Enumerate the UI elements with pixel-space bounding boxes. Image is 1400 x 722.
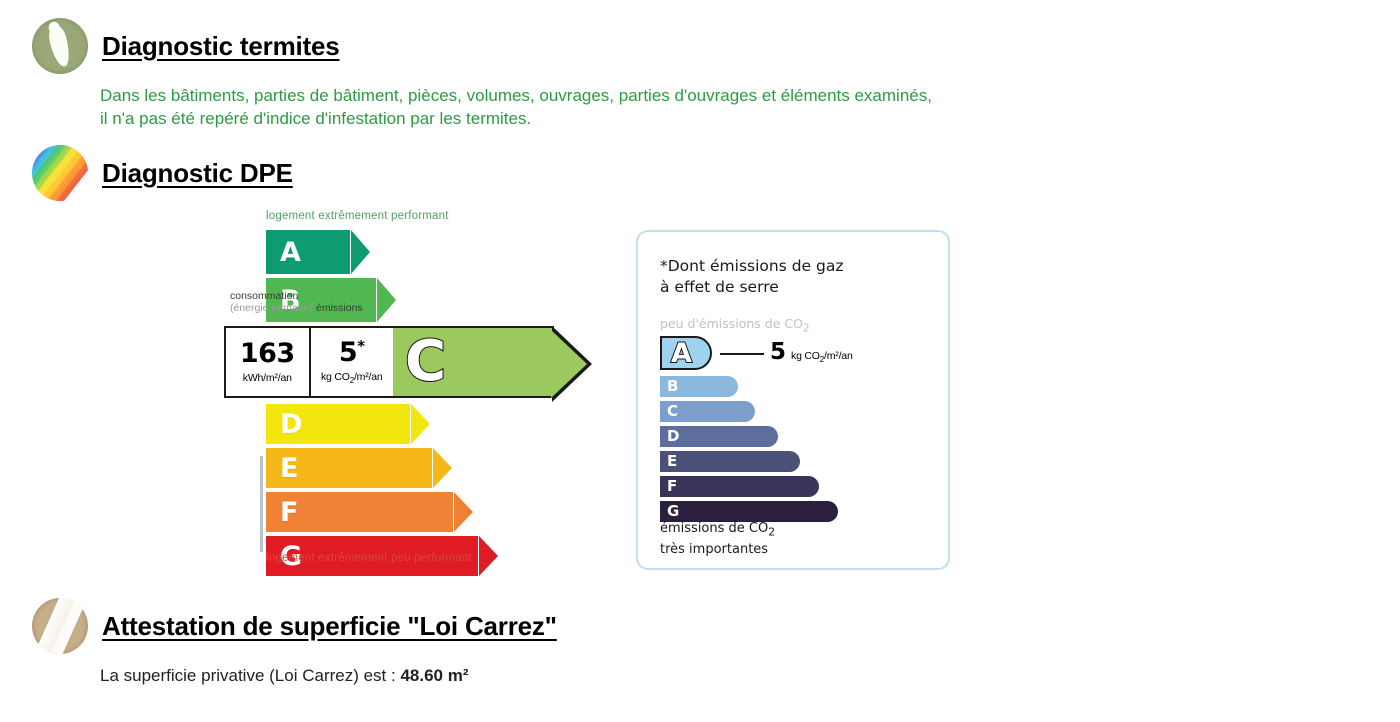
co2-bar-a: A	[660, 336, 712, 370]
co2-row-c: C	[660, 401, 930, 422]
co2-row-d: D	[660, 426, 930, 447]
dpe-header: Diagnostic DPE	[0, 145, 1400, 201]
co2-row-f: F	[660, 476, 930, 497]
energy-band-f: F	[266, 492, 453, 532]
energy-consumption-label: logement extrêmement performant ABDEFG c…	[112, 208, 612, 576]
measuring-tape-icon	[32, 598, 88, 654]
emissions-unit: kg CO2/m²/an	[321, 371, 383, 385]
energy-letter-f: F	[280, 499, 298, 526]
energy-caption-top: logement extrêmement performant	[266, 210, 449, 222]
energy-grade-c-letter: C	[405, 334, 446, 390]
co2-value-readout: 5kg CO2/m²/an	[770, 341, 853, 364]
co2-bar-g: G	[660, 501, 838, 522]
section-attestation-loi-carrez: Attestation de superficie "Loi Carrez" L…	[0, 598, 1400, 686]
energy-grade-c-arrow: C	[393, 326, 554, 398]
co2-leader-line	[720, 353, 764, 355]
co2-value-number: 5	[770, 341, 786, 364]
energy-value-headers: consommation (énergie primaire) émission…	[224, 290, 399, 324]
energy-letter-e: E	[280, 455, 298, 482]
energy-band-e: E	[266, 448, 432, 488]
co2-panel-title: *Dont émissions de gaz à effet de serre	[660, 256, 843, 298]
section-diagnostic-termites: Diagnostic termites Dans les bâtiments, …	[0, 18, 1400, 130]
co2-bar-d: D	[660, 426, 778, 447]
co2-caption-top: peu d'émissions de CO2	[660, 316, 810, 335]
co2-bar-c: C	[660, 401, 755, 422]
co2-row-b: B	[660, 376, 930, 397]
dpe-title: Diagnostic DPE	[102, 158, 293, 189]
carrez-surface-value: 48.60 m²	[400, 666, 468, 685]
consumption-unit: kWh/m²/an	[243, 372, 292, 384]
co2-letter-c: C	[667, 404, 678, 419]
energy-band-a: A	[266, 230, 350, 274]
co2-letter-b: B	[667, 379, 678, 394]
co2-bar-e: E	[660, 451, 800, 472]
co2-letter-a: A	[671, 340, 692, 367]
co2-letter-g: G	[667, 504, 679, 519]
energy-letter-a: A	[280, 239, 301, 266]
co2-letter-f: F	[667, 479, 677, 494]
co2-band-list: A5kg CO2/m²/anBCDEFG	[660, 336, 930, 526]
energy-caption-bottom: logement extrêmement peu performant	[266, 552, 472, 564]
co2-letter-e: E	[667, 454, 677, 469]
co2-value-unit: kg CO2/m²/an	[791, 350, 853, 364]
carrez-text-prefix: La superficie privative (Loi Carrez) est…	[100, 666, 400, 685]
co2-row-a: A5kg CO2/m²/an	[660, 336, 930, 370]
co2-bar-b: B	[660, 376, 738, 397]
energy-values-box: 163 kWh/m²/an 5* kg CO2/m²/an	[224, 326, 393, 398]
energy-scale-line	[260, 456, 263, 552]
emissions-value: 5*	[339, 339, 365, 366]
co2-caption-bottom: émissions de CO2très importantes	[660, 520, 775, 558]
co2-emissions-label: *Dont émissions de gaz à effet de serre …	[636, 230, 950, 570]
energy-active-band-c: 163 kWh/m²/an 5* kg CO2/m²/an C	[224, 326, 554, 398]
co2-letter-d: D	[667, 429, 679, 444]
consumption-value-cell: 163 kWh/m²/an	[226, 328, 309, 396]
termites-body-text: Dans les bâtiments, parties de bâtiment,…	[0, 84, 1400, 130]
carrez-title: Attestation de superficie "Loi Carrez"	[102, 611, 557, 642]
section-diagnostic-dpe: Diagnostic DPE	[0, 145, 1400, 201]
consumption-value: 163	[240, 340, 295, 367]
energy-letter-d: D	[280, 411, 302, 438]
consumption-header: consommation (énergie primaire)	[230, 290, 313, 314]
emissions-header: émissions	[316, 302, 363, 314]
energy-bar-e: E	[266, 448, 432, 488]
carrez-header: Attestation de superficie "Loi Carrez"	[0, 598, 1400, 654]
termites-title: Diagnostic termites	[102, 31, 340, 62]
energy-bar-d: D	[266, 404, 410, 444]
emissions-value-cell: 5* kg CO2/m²/an	[309, 328, 394, 396]
dpe-graphic: logement extrêmement performant ABDEFG c…	[0, 208, 1400, 583]
termites-header: Diagnostic termites	[0, 18, 1400, 74]
co2-bar-f: F	[660, 476, 819, 497]
co2-row-g: G	[660, 501, 930, 522]
termite-icon	[32, 18, 88, 74]
carrez-surface-line: La superficie privative (Loi Carrez) est…	[0, 666, 1400, 686]
energy-band-d: D	[266, 404, 410, 444]
energy-bar-f: F	[266, 492, 453, 532]
rainbow-icon	[32, 145, 88, 201]
energy-bar-a: A	[266, 230, 350, 274]
co2-row-e: E	[660, 451, 930, 472]
